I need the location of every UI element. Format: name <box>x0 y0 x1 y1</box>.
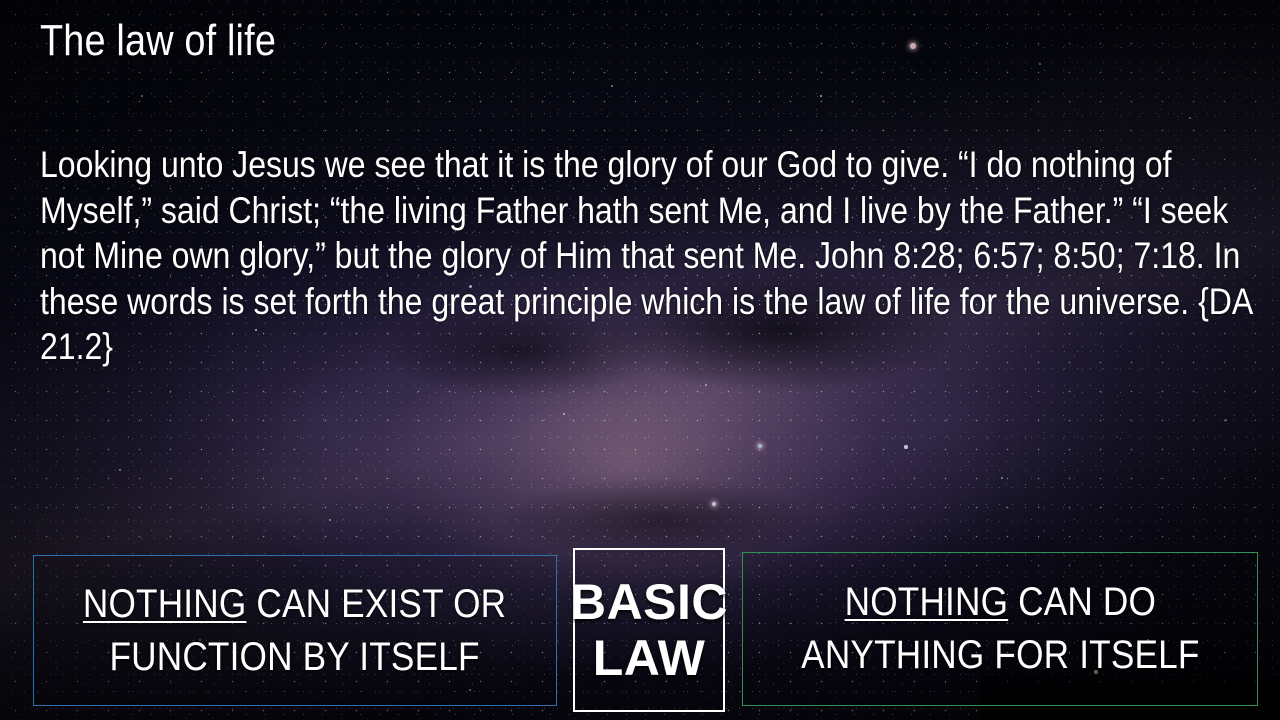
law-box-left[interactable]: NOTHING CAN EXIST OR FUNCTION BY ITSELF <box>33 555 557 706</box>
presentation-slide: The law of life Looking unto Jesus we se… <box>0 0 1280 720</box>
slide-body-paragraph: Looking unto Jesus we see that it is the… <box>40 142 1258 370</box>
law-left-line1: NOTHING CAN EXIST OR <box>83 582 506 626</box>
law-left-line1-rest: CAN EXIST OR <box>247 582 507 626</box>
law-box-left-text: NOTHING CAN EXIST OR FUNCTION BY ITSELF <box>83 578 506 684</box>
law-right-line1: NOTHING CAN DO <box>844 580 1155 624</box>
law-left-emphasis: NOTHING <box>83 582 247 626</box>
slide-content: The law of life Looking unto Jesus we se… <box>0 0 1280 720</box>
basic-law-line1: BASIC <box>570 574 728 630</box>
law-box-right[interactable]: NOTHING CAN DO ANYTHING FOR ITSELF <box>742 552 1258 706</box>
law-box-center-text: BASIC LAW <box>570 574 728 686</box>
law-right-line1-rest: CAN DO <box>1008 580 1156 624</box>
law-right-line2: ANYTHING FOR ITSELF <box>801 633 1199 677</box>
basic-law-line2: LAW <box>593 630 706 686</box>
law-right-emphasis: NOTHING <box>844 580 1008 624</box>
law-left-line2: FUNCTION BY ITSELF <box>110 635 480 679</box>
law-box-right-text: NOTHING CAN DO ANYTHING FOR ITSELF <box>801 576 1199 682</box>
slide-title: The law of life <box>40 18 276 65</box>
law-box-center[interactable]: BASIC LAW <box>573 548 725 712</box>
